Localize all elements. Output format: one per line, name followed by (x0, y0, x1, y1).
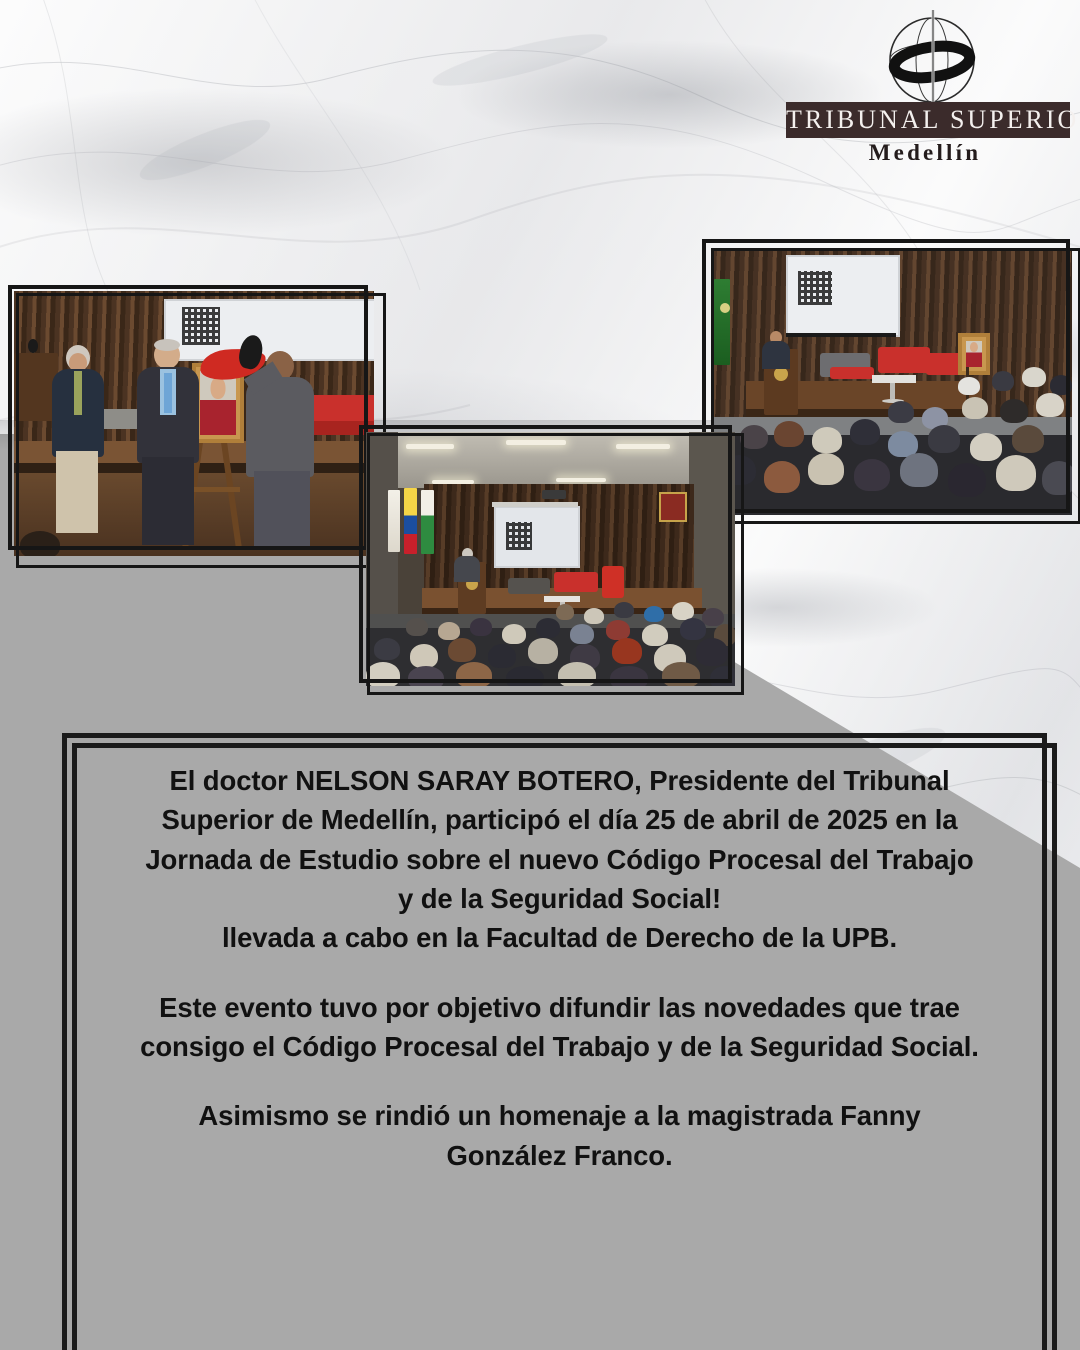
tribunal-superior-logo: TRIBUNAL SUPERIOR Medellín (780, 8, 1076, 176)
logo-subtitle: Medellín (780, 140, 1070, 166)
photo-unveiling-portrait (14, 291, 374, 556)
logo-title: TRIBUNAL SUPERIOR (786, 102, 1070, 138)
announcement-line-8: Asimismo se rindió un homenaje a la magi… (82, 1096, 1037, 1135)
photo-auditorium-wide-image (366, 432, 735, 686)
announcement-line-6: Este evento tuvo por objetivo difundir l… (82, 988, 1037, 1027)
announcement-text: El doctor NELSON SARAY BOTERO, President… (82, 761, 1037, 1175)
photo-auditorium-speaker-image (712, 249, 1072, 515)
announcement-line-2: Superior de Medellín, participó el día 2… (82, 800, 1037, 839)
photo-unveiling-image (14, 291, 374, 556)
announcement-card: El doctor NELSON SARAY BOTERO, President… (62, 733, 1047, 1350)
announcement-line-7: consigo el Código Procesal del Trabajo y… (82, 1027, 1037, 1066)
paragraph-gap-2 (82, 1066, 1037, 1096)
sphere-ring-emblem-icon (880, 10, 984, 114)
photo-auditorium-speaker-right (712, 249, 1072, 515)
logo-title-bar: TRIBUNAL SUPERIOR (786, 102, 1070, 138)
announcement-line-3: Jornada de Estudio sobre el nuevo Código… (82, 840, 1037, 879)
announcement-line-9: González Franco. (82, 1136, 1037, 1175)
poster-canvas: TRIBUNAL SUPERIOR Medellín (0, 0, 1080, 1350)
paragraph-gap-1 (82, 958, 1037, 988)
announcement-line-5: llevada a cabo en la Facultad de Derecho… (82, 918, 1037, 957)
announcement-line-1: El doctor NELSON SARAY BOTERO, President… (82, 761, 1037, 800)
photo-auditorium-wide (366, 432, 735, 686)
announcement-line-4: y de la Seguridad Social! (82, 879, 1037, 918)
